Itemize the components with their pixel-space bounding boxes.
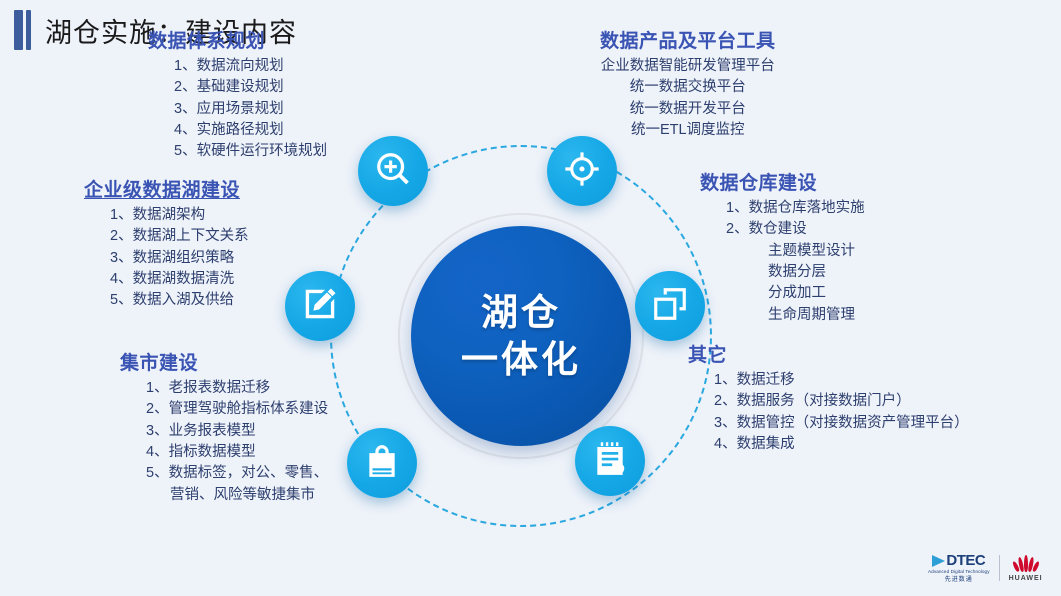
block-data-system-planning: 数据体系规划 1、数据流向规划 2、基础建设规划 3、应用场景规划 4、实施路径… bbox=[148, 26, 327, 163]
sub-list-item: 主题模型设计 bbox=[726, 241, 865, 262]
block-data-products-platform: 数据产品及平台工具 企业数据智能研发管理平台 统一数据交换平台 统一数据开发平台… bbox=[600, 26, 776, 141]
list-item: 2、管理驾驶舱指标体系建设 bbox=[146, 399, 328, 420]
list-item: 3、数据湖组织策略 bbox=[110, 248, 249, 269]
sub-list-item: 数据分层 bbox=[726, 262, 865, 283]
block-list: 企业数据智能研发管理平台 统一数据交换平台 统一数据开发平台 统一ETL调度监控 bbox=[600, 56, 776, 141]
logo-bar: DTEC Advanced Digital Technology 先进数通 HU… bbox=[928, 546, 1054, 590]
list-item: 4、数据集成 bbox=[714, 434, 969, 455]
sub-list-item: 生命周期管理 bbox=[726, 305, 865, 326]
list-item: 4、数据湖数据清洗 bbox=[110, 269, 249, 290]
dtec-logo: DTEC Advanced Digital Technology 先进数通 bbox=[928, 553, 990, 583]
huawei-wordmark: HUAWEI bbox=[1009, 575, 1043, 582]
list-item: 1、数据流向规划 bbox=[174, 56, 327, 77]
list-item: 统一数据交换平台 bbox=[600, 77, 776, 98]
slide-canvas: 湖仓实施：建设内容 湖仓 一体化 bbox=[0, 0, 1061, 596]
center-label-line2: 一体化 bbox=[461, 336, 581, 383]
node-data-warehouse[interactable] bbox=[635, 271, 705, 341]
list-item: 1、数据迁移 bbox=[714, 370, 969, 391]
block-list: 1、数据湖架构 2、数据湖上下文关系 3、数据湖组织策略 4、数据湖数据清洗 5… bbox=[84, 205, 249, 312]
list-item-continuation: 营销、风险等敏捷集市 bbox=[146, 485, 328, 506]
list-item: 1、数据仓库落地实施 bbox=[726, 198, 865, 219]
huawei-logo: HUAWEI bbox=[1009, 555, 1043, 582]
list-item: 4、指标数据模型 bbox=[146, 442, 328, 463]
list-item: 5、数据标签，对公、零售、 bbox=[146, 463, 328, 484]
dtec-mark-icon bbox=[932, 555, 945, 567]
checklist-note-icon bbox=[591, 440, 629, 483]
list-item: 5、软硬件运行环境规划 bbox=[174, 141, 327, 162]
dtec-chinese-name: 先进数通 bbox=[945, 577, 973, 583]
block-market-construction: 集市建设 1、老报表数据迁移 2、管理驾驶舱指标体系建设 3、业务报表模型 4、… bbox=[120, 348, 328, 506]
block-data-warehouse: 数据仓库建设 1、数据仓库落地实施 2、数仓建设 主题模型设计 数据分层 分成加… bbox=[700, 168, 865, 326]
title-accent-bars bbox=[14, 10, 31, 50]
list-item: 2、数仓建设 bbox=[726, 219, 865, 240]
sub-list-item: 分成加工 bbox=[726, 283, 865, 304]
list-item: 4、实施路径规划 bbox=[174, 120, 327, 141]
huawei-flower-icon bbox=[1014, 555, 1038, 572]
list-item: 2、基础建设规划 bbox=[174, 77, 327, 98]
block-list: 1、数据迁移 2、数据服务（对接数据门户） 3、数据管控（对接数据资产管理平台）… bbox=[688, 370, 969, 455]
copy-layers-icon bbox=[651, 285, 689, 328]
list-item: 企业数据智能研发管理平台 bbox=[600, 56, 776, 77]
logo-divider bbox=[999, 555, 1000, 581]
center-label-line1: 湖仓 bbox=[481, 289, 561, 336]
block-list: 1、老报表数据迁移 2、管理驾驶舱指标体系建设 3、业务报表模型 4、指标数据模… bbox=[120, 378, 328, 506]
zoom-in-icon bbox=[374, 150, 412, 193]
block-heading: 数据体系规划 bbox=[148, 26, 327, 53]
block-enterprise-data-lake: 企业级数据湖建设 1、数据湖架构 2、数据湖上下文关系 3、数据湖组织策略 4、… bbox=[84, 175, 249, 312]
block-heading: 企业级数据湖建设 bbox=[84, 175, 249, 202]
node-data-products-platform[interactable] bbox=[547, 136, 617, 206]
dtec-wordmark: DTEC bbox=[946, 553, 985, 568]
list-item: 3、数据管控（对接数据资产管理平台） bbox=[714, 413, 969, 434]
edit-square-icon bbox=[301, 285, 339, 328]
block-heading: 集市建设 bbox=[120, 348, 328, 375]
node-enterprise-data-lake[interactable] bbox=[285, 271, 355, 341]
dtec-tagline: Advanced Digital Technology bbox=[928, 570, 990, 575]
block-heading: 数据仓库建设 bbox=[700, 168, 865, 195]
list-item: 1、数据湖架构 bbox=[110, 205, 249, 226]
list-item: 2、数据湖上下文关系 bbox=[110, 226, 249, 247]
shopping-bag-icon bbox=[363, 442, 401, 485]
list-item: 2、数据服务（对接数据门户） bbox=[714, 391, 969, 412]
block-heading: 数据产品及平台工具 bbox=[600, 26, 776, 53]
list-item: 1、老报表数据迁移 bbox=[146, 378, 328, 399]
list-item: 5、数据入湖及供给 bbox=[110, 290, 249, 311]
crosshair-icon bbox=[563, 150, 601, 193]
node-data-system-planning[interactable] bbox=[358, 136, 428, 206]
block-heading: 其它 bbox=[688, 340, 969, 367]
center-hub-circle: 湖仓 一体化 bbox=[411, 226, 631, 446]
list-item: 3、应用场景规划 bbox=[174, 99, 327, 120]
node-others[interactable] bbox=[575, 426, 645, 496]
node-market-construction[interactable] bbox=[347, 428, 417, 498]
block-list: 1、数据仓库落地实施 2、数仓建设 主题模型设计 数据分层 分成加工 生命周期管… bbox=[700, 198, 865, 326]
block-others: 其它 1、数据迁移 2、数据服务（对接数据门户） 3、数据管控（对接数据资产管理… bbox=[688, 340, 969, 455]
list-item: 统一数据开发平台 bbox=[600, 99, 776, 120]
list-item: 统一ETL调度监控 bbox=[600, 120, 776, 141]
block-list: 1、数据流向规划 2、基础建设规划 3、应用场景规划 4、实施路径规划 5、软硬… bbox=[148, 56, 327, 163]
list-item: 3、业务报表模型 bbox=[146, 421, 328, 442]
